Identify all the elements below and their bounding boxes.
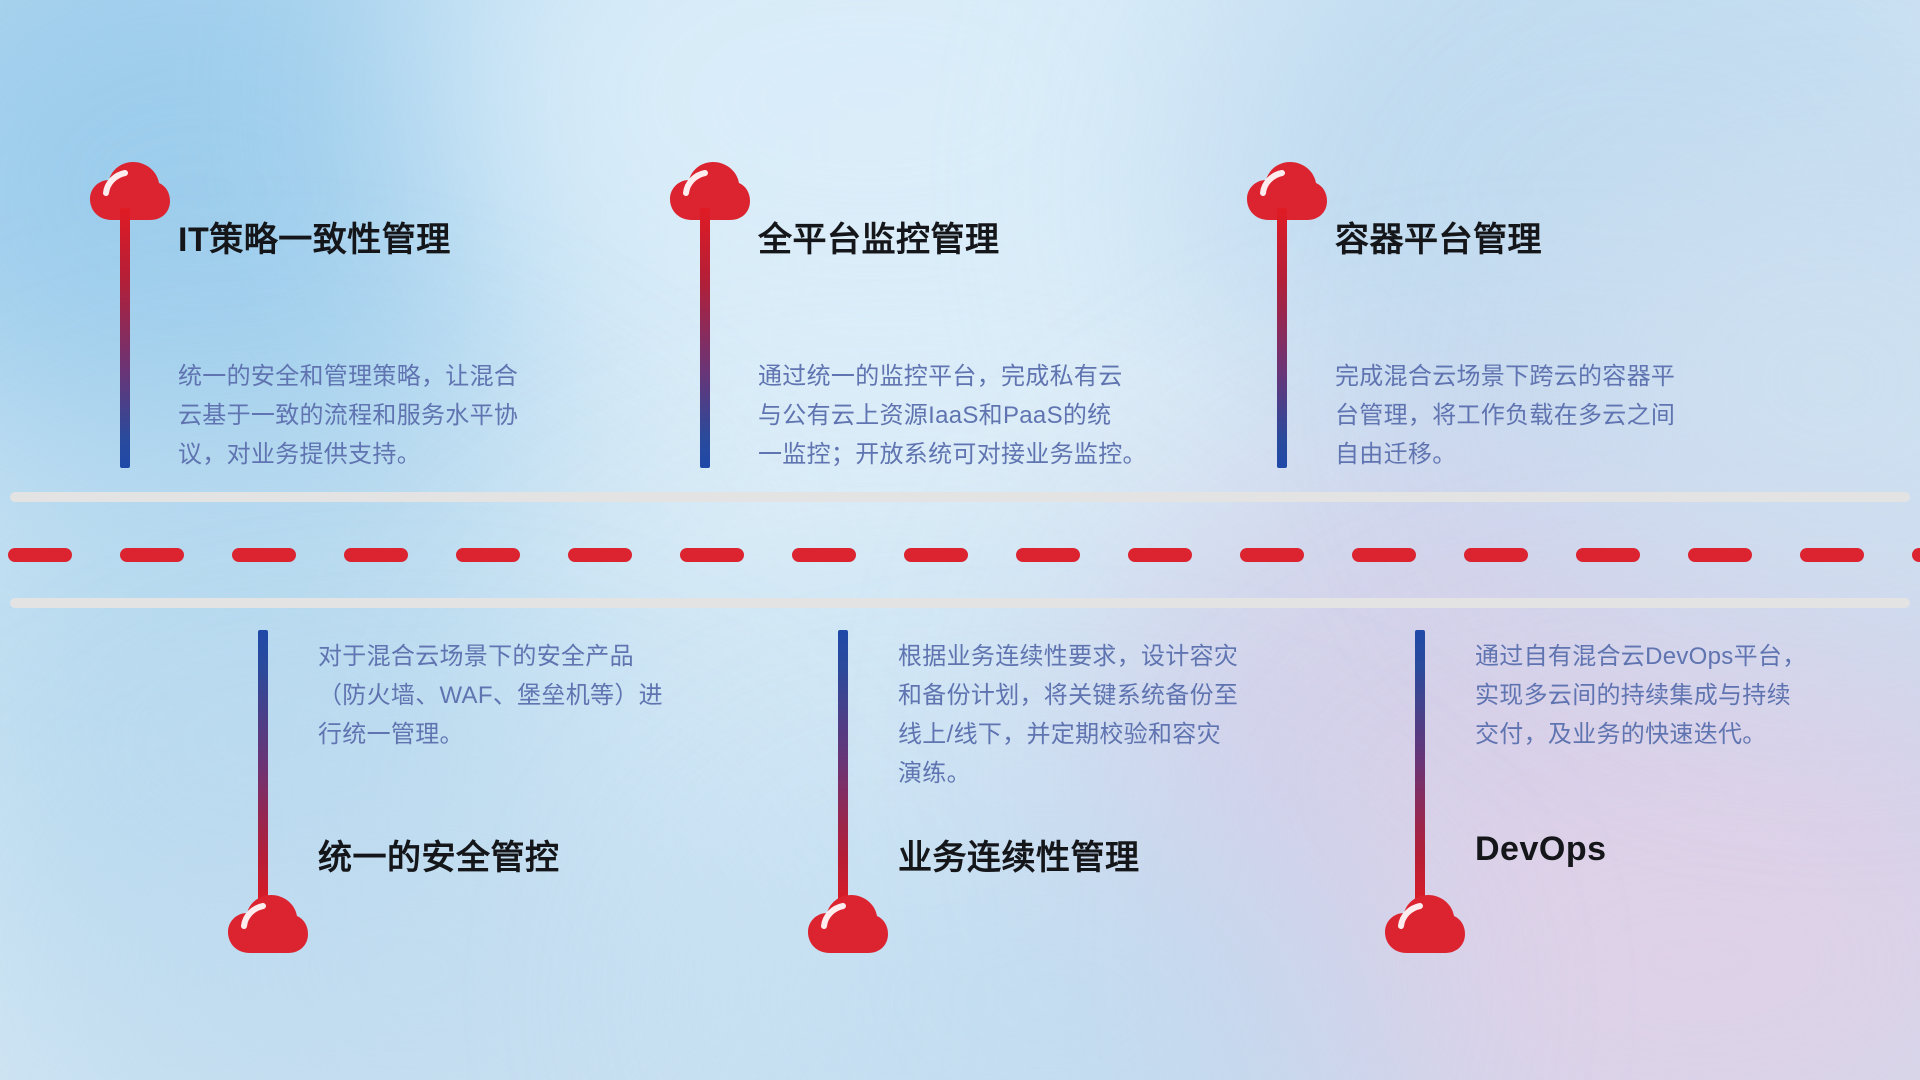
item-description: 通过自有混合云DevOps平台， 实现多云间的持续集成与持续 交付，及业务的快速… — [1475, 637, 1905, 754]
cloud-icon — [226, 893, 310, 955]
accent-bar — [838, 630, 848, 910]
infographic-canvas: IT策略一致性管理 统一的安全和管理策略，让混合 云基于一致的流程和服务水平协 … — [0, 0, 1920, 1080]
item-title: 容器平台管理 — [1335, 212, 1542, 261]
divider-dash — [456, 548, 520, 562]
divider-dash — [904, 548, 968, 562]
solid-divider-top — [10, 492, 1910, 502]
solid-divider-bottom — [10, 598, 1910, 608]
divider-dash — [1800, 548, 1864, 562]
divider-dash — [1688, 548, 1752, 562]
divider-dash — [1912, 548, 1920, 562]
divider-dash — [1016, 548, 1080, 562]
cloud-icon — [806, 893, 890, 955]
divider-dash — [1464, 548, 1528, 562]
divider-dash — [1576, 548, 1640, 562]
divider-dash — [120, 548, 184, 562]
dashed-divider-middle — [0, 548, 1920, 562]
divider-dash — [680, 548, 744, 562]
item-title: DevOps — [1475, 830, 1607, 869]
cloud-icon — [88, 160, 172, 222]
divider-dash — [568, 548, 632, 562]
divider-dash — [232, 548, 296, 562]
cloud-icon — [668, 160, 752, 222]
cloud-icon — [1383, 893, 1467, 955]
accent-bar — [700, 208, 710, 468]
item-title: IT策略一致性管理 — [178, 212, 451, 261]
item-description: 统一的安全和管理策略，让混合 云基于一致的流程和服务水平协 议，对业务提供支持。 — [178, 357, 608, 474]
accent-bar — [120, 208, 130, 468]
accent-bar — [1415, 630, 1425, 910]
item-description: 根据业务连续性要求，设计容灾 和备份计划，将关键系统备份至 线上/线下，并定期校… — [898, 637, 1338, 793]
item-description: 通过统一的监控平台，完成私有云 与公有云上资源IaaS和PaaS的统 一监控；开… — [758, 357, 1208, 474]
divider-dash — [344, 548, 408, 562]
divider-dash — [1128, 548, 1192, 562]
cloud-icon — [1245, 160, 1329, 222]
accent-bar — [258, 630, 268, 910]
item-title: 业务连续性管理 — [898, 830, 1140, 879]
item-description: 完成混合云场景下跨云的容器平 台管理，将工作负载在多云之间 自由迁移。 — [1335, 357, 1785, 474]
divider-dash — [1352, 548, 1416, 562]
divider-dash — [792, 548, 856, 562]
item-description: 对于混合云场景下的安全产品 （防火墙、WAF、堡垒机等）进 行统一管理。 — [318, 637, 748, 754]
item-title: 统一的安全管控 — [318, 830, 560, 879]
divider-dash — [8, 548, 72, 562]
item-title: 全平台监控管理 — [758, 212, 1000, 261]
divider-dash — [1240, 548, 1304, 562]
accent-bar — [1277, 208, 1287, 468]
